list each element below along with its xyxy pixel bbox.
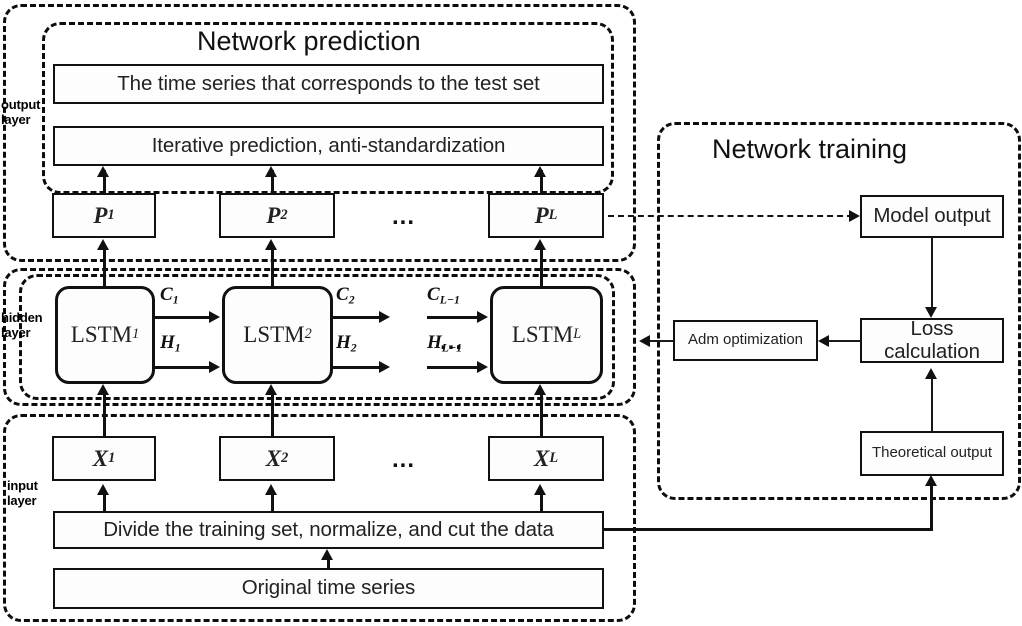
side-label-hidden-line1: hidden [1,311,42,326]
arrow-c2 [379,311,390,323]
connector-lstml-to-pl [540,246,543,286]
signal-c1-name: C [160,284,173,305]
connector-xl-to-lstml [540,390,543,438]
side-label-output-line1: output [1,98,40,113]
arrow-pl-to-iterative [534,166,546,177]
arrow-loss-to-adm [818,335,829,347]
arrow-riser-to-theoretical [925,475,937,486]
prediction-box-p1: P1 [52,193,156,238]
signal-h1-sub: 1 [175,341,181,354]
input-x2-label: X [266,446,281,471]
model-output-box: Model output [860,195,1004,238]
arrow-adm-to-hidden-layer [639,335,650,347]
arrow-p2-to-iterative [265,166,277,177]
lstm-cell-l: LSTML [490,286,603,384]
arrow-p1-to-iterative [97,166,109,177]
side-label-hidden-layer: hidden layer [1,311,42,340]
connector-hl-1 [427,366,479,369]
connector-theoretical-to-loss [931,375,933,431]
connector-lstm1-to-p1 [103,246,106,286]
input-x2-sub: 2 [281,451,288,467]
original-time-series-box: Original time series [53,568,604,609]
adm-optimization-box: Adm optimization [673,320,818,361]
connector-lstm2-to-p2 [271,246,274,286]
side-label-hidden-line2: layer [1,326,42,341]
signal-hl-1-label: HL−1 [427,332,462,355]
input-box-x1: X1 [52,436,156,481]
arrow-cl-1 [477,311,488,323]
arrow-lstm2-to-p2 [265,239,277,250]
connector-adm-to-hidden-layer [650,340,674,342]
connector-x1-to-lstm1 [103,390,106,438]
lstm-cell-2-label: LSTM [243,322,304,347]
network-prediction-title: Network prediction [197,26,421,57]
prediction-pl-sub: L [549,208,558,224]
input-xl-sub: L [549,451,558,467]
arrow-divide-to-xl [534,484,546,495]
connector-loss-to-adm [829,340,861,342]
side-label-input-line1: input [7,479,38,494]
input-xl-label: X [534,446,549,471]
arrow-x2-to-lstm2 [265,384,277,395]
lstm-cell-1-sub: 1 [132,327,139,343]
connector-predictions-to-model-output [608,215,853,217]
connector-h2 [333,366,381,369]
input-box-x2: X2 [219,436,335,481]
prediction-box-pl: PL [488,193,604,238]
lstm-cell-l-label: LSTM [512,322,573,347]
signal-c2-sub: 2 [349,293,355,306]
signal-cl-1-label: CL−1 [427,284,460,307]
connector-cl-1 [427,316,479,319]
lstm-cell-1: LSTM1 [55,286,155,384]
arrow-divide-to-x2 [265,484,277,495]
arrow-c1 [209,311,220,323]
side-label-input-line2: layer [7,494,38,509]
arrow-original-to-divide [321,549,333,560]
signal-c1-label: C1 [160,284,179,307]
signal-cl-1-name: C [427,284,440,305]
arrow-lstml-to-pl [534,239,546,250]
prediction-p2-label: P [266,203,280,228]
arrow-theoretical-to-loss [925,368,937,379]
signal-hl-1-sub: L−1 [442,341,462,354]
signal-c2-label: C2 [336,284,355,307]
connector-riser-to-theoretical [930,484,933,530]
signal-h1-name: H [160,332,175,353]
prediction-p1-sub: 1 [107,208,114,224]
signal-hl-1-name: H [427,332,442,353]
connector-c2 [333,316,381,319]
test-series-box: The time series that corresponds to the … [53,64,604,104]
lstm-cell-2-sub: 2 [305,327,312,343]
signal-h2-sub: 2 [351,341,357,354]
arrow-model-output-to-loss [925,307,937,318]
loss-calculation-box: Loss calculation [860,318,1004,363]
input-row-ellipsis: ... [392,446,415,474]
signal-c1-sub: 1 [173,293,179,306]
arrow-x1-to-lstm1 [97,384,109,395]
arrow-lstm1-to-p1 [97,239,109,250]
prediction-pl-label: P [535,203,549,228]
prediction-row-ellipsis: ... [392,203,415,231]
network-training-title: Network training [712,134,907,165]
iterative-prediction-box: Iterative prediction, anti-standardizati… [53,126,604,166]
connector-h1 [155,366,211,369]
side-label-output-layer: output layer [1,98,40,127]
arrow-xl-to-lstml [534,384,546,395]
divide-training-set-box: Divide the training set, normalize, and … [53,511,604,549]
arrow-h2 [379,361,390,373]
signal-h2-label: H2 [336,332,357,355]
connector-c1 [155,316,211,319]
lstm-cell-2: LSTM2 [222,286,333,384]
arrow-h1 [209,361,220,373]
connector-divide-to-right [604,528,933,531]
diagram-canvas: output layer hidden layer input layer Ne… [0,0,1022,626]
arrow-divide-to-x1 [97,484,109,495]
input-x1-sub: 1 [108,451,115,467]
signal-c2-name: C [336,284,349,305]
connector-model-output-to-loss [931,238,933,307]
prediction-p2-sub: 2 [280,208,287,224]
input-box-xl: XL [488,436,604,481]
signal-cl-1-sub: L−1 [440,293,460,306]
input-x1-label: X [93,446,108,471]
signal-h2-name: H [336,332,351,353]
signal-h1-label: H1 [160,332,181,355]
connector-x2-to-lstm2 [271,390,274,438]
lstm-cell-l-sub: L [573,327,581,343]
side-label-output-line2: layer [1,113,40,128]
theoretical-output-box: Theoretical output [860,431,1004,476]
side-label-input-layer: input layer [7,479,38,508]
prediction-box-p2: P2 [219,193,335,238]
arrow-predictions-to-model-output [849,210,860,222]
prediction-p1-label: P [93,203,107,228]
arrow-hl-1 [477,361,488,373]
lstm-cell-1-label: LSTM [71,322,132,347]
